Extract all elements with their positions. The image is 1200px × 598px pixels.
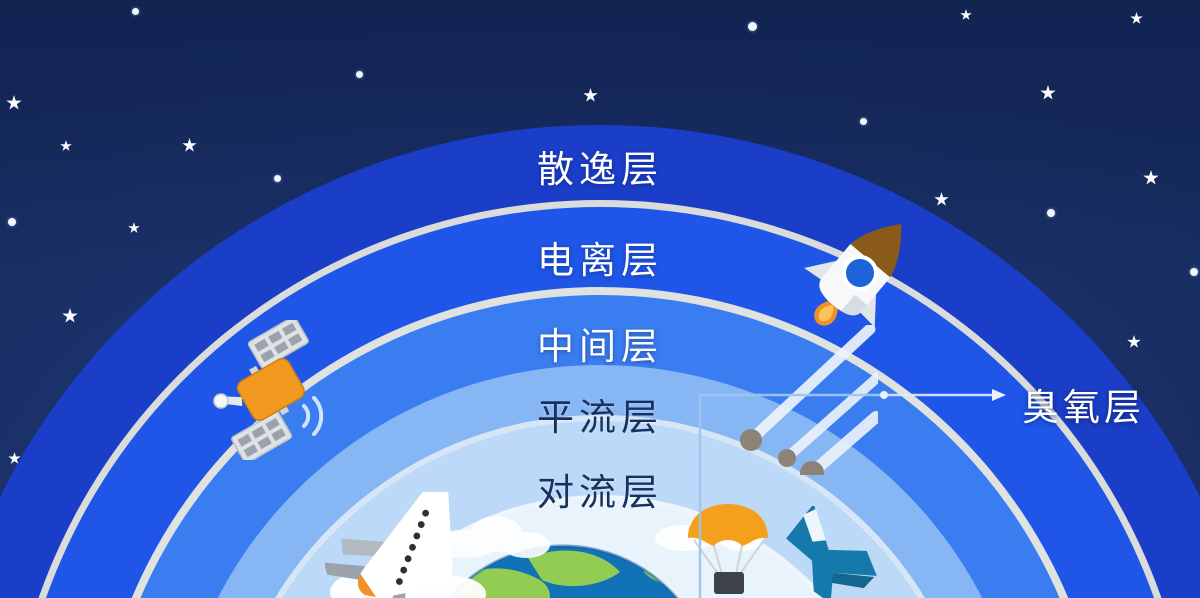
signal-waves-icon bbox=[304, 398, 321, 434]
atmosphere-rings bbox=[0, 0, 1200, 598]
rocket-icon bbox=[790, 205, 930, 340]
airplane-icon bbox=[325, 492, 495, 598]
parachute-icon bbox=[680, 502, 776, 598]
parachute-canopy bbox=[688, 504, 768, 546]
parachute-payload bbox=[714, 572, 744, 594]
satellite-icon bbox=[200, 320, 340, 460]
jet-body bbox=[775, 506, 893, 598]
layer-label-ozone: 臭氧层 bbox=[1022, 377, 1145, 431]
meteor-shower-icon bbox=[718, 325, 878, 475]
atmosphere-infographic: 散逸层 电离层 中间层 平流层 对流层 臭氧层 bbox=[0, 0, 1200, 598]
parachute-cords bbox=[694, 540, 764, 574]
fighter-jet-icon bbox=[775, 506, 893, 598]
meteor-3 bbox=[800, 417, 876, 475]
